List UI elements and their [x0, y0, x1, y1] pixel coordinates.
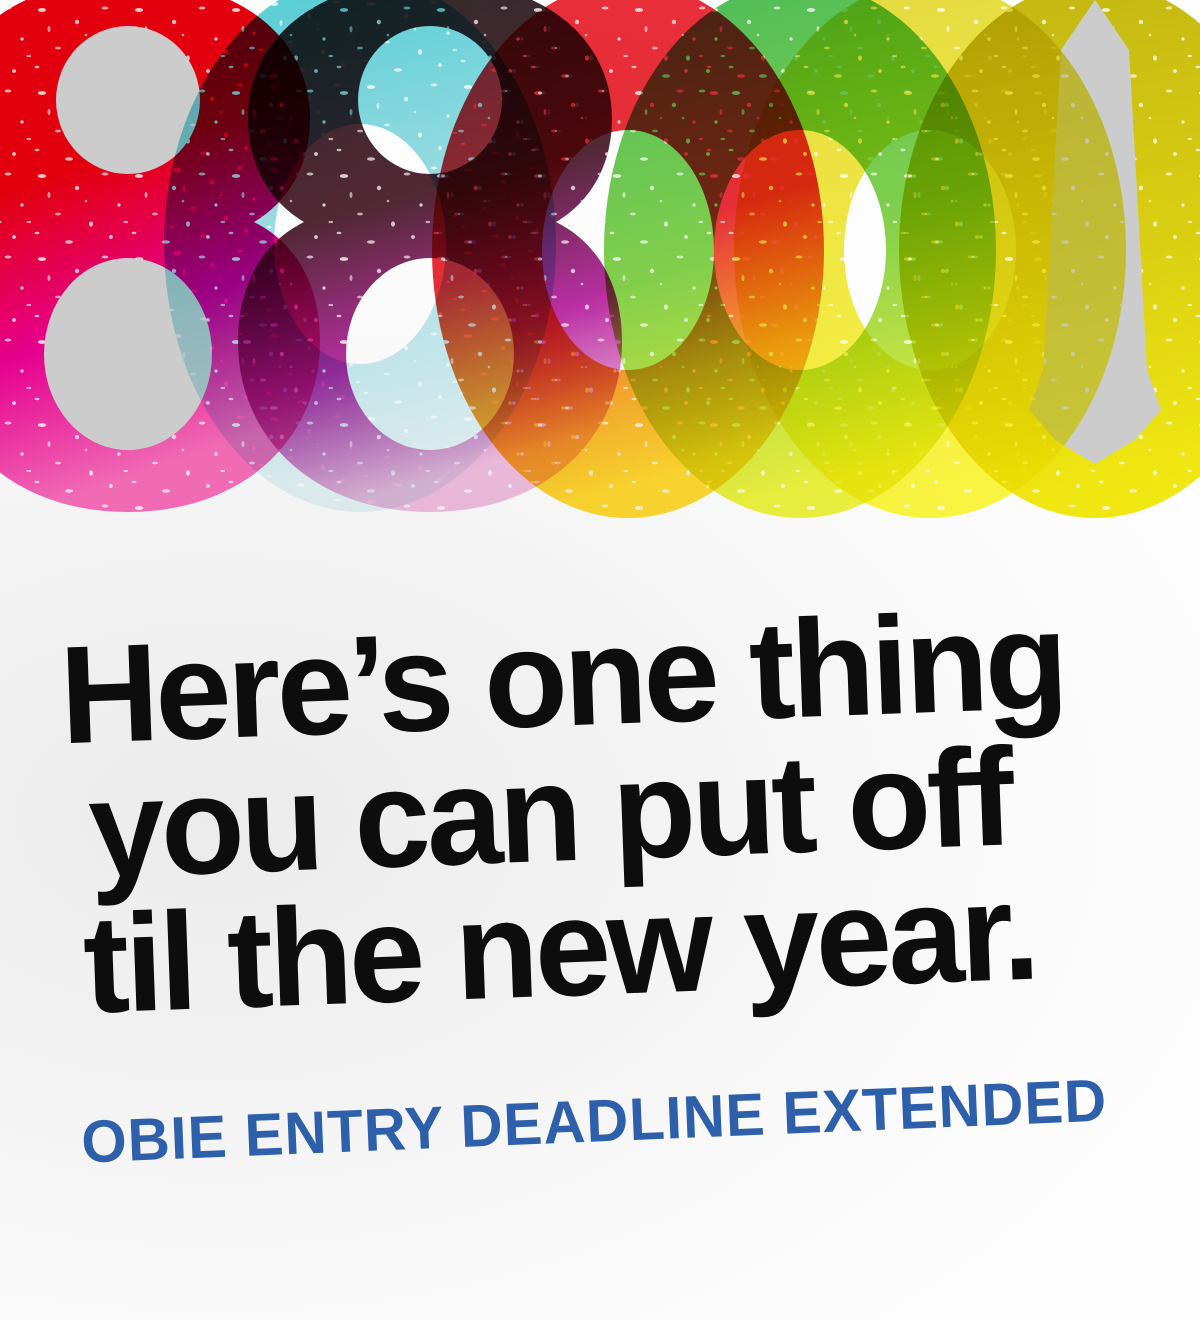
obie-letterform-artwork: [0, 0, 1200, 530]
artwork-band: [0, 0, 1200, 530]
poster-canvas: Here’s one thing you can put off til the…: [0, 0, 1200, 1320]
subhead-text: OBIE ENTRY DEADLINE EXTENDED: [0, 1064, 1164, 1180]
headline: Here’s one thing you can put off til the…: [0, 588, 1200, 1036]
subhead: OBIE ENTRY DEADLINE EXTENDED: [0, 1063, 1200, 1180]
headline-line-3: til the new year.: [2, 858, 1188, 1035]
